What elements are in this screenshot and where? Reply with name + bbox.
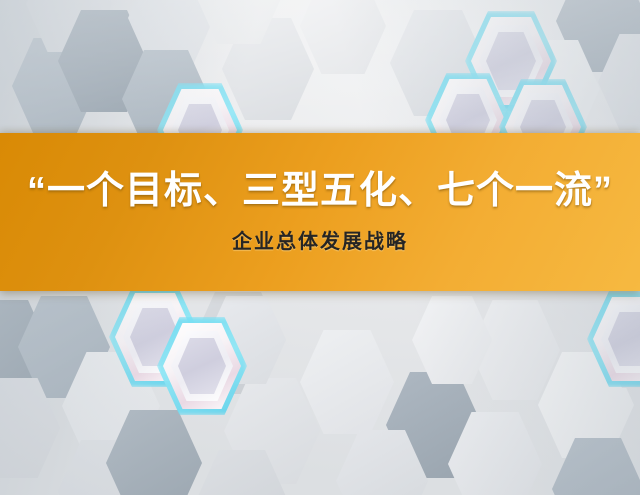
presentation-slide: “一个目标、三型五化、七个一流” 企业总体发展战略 (0, 0, 640, 495)
slide-title: “一个目标、三型五化、七个一流” (27, 170, 613, 213)
slide-subtitle: 企业总体发展战略 (232, 225, 408, 254)
title-banner: “一个目标、三型五化、七个一流” 企业总体发展战略 (0, 133, 640, 291)
